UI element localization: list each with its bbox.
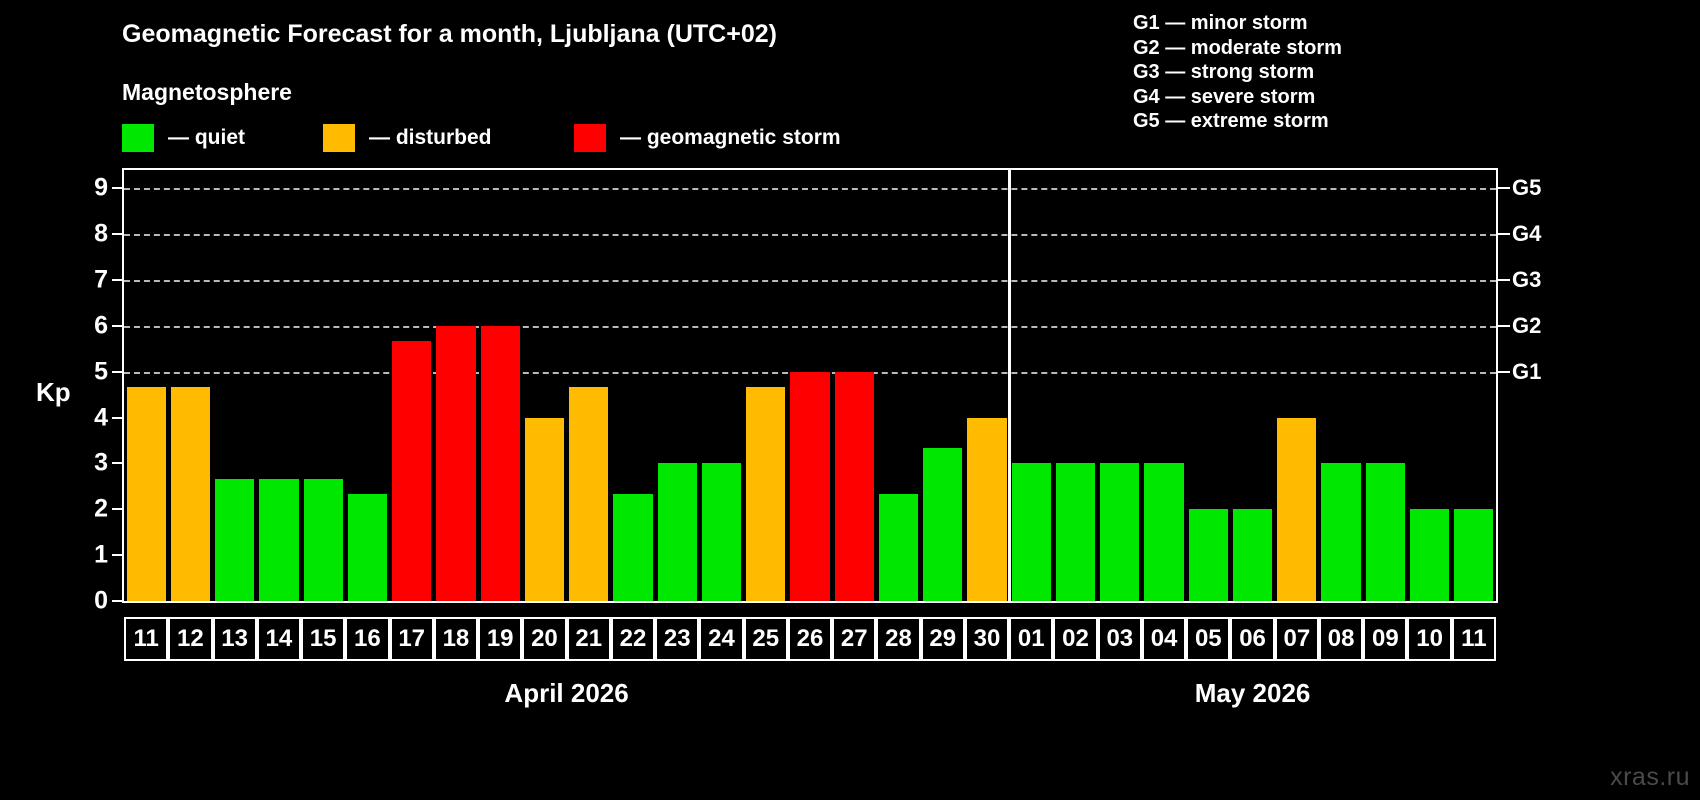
bar-april-12[interactable]: [171, 387, 210, 601]
day-label-april-16[interactable]: 16: [345, 617, 389, 661]
bar-april-24[interactable]: [702, 463, 741, 601]
bar-april-27[interactable]: [835, 372, 874, 601]
day-label-may-11[interactable]: 11: [1452, 617, 1496, 661]
day-label-april-17[interactable]: 17: [390, 617, 434, 661]
day-label-april-21[interactable]: 21: [567, 617, 611, 661]
gridline-kp-6: [124, 326, 1496, 328]
legend-swatch-icon: [122, 124, 154, 152]
month-separator-line: [1008, 170, 1011, 601]
page-title: Geomagnetic Forecast for a month, Ljublj…: [122, 20, 777, 49]
g-scale-legend: G1 — minor stormG2 — moderate stormG3 — …: [1133, 11, 1342, 134]
y-tick-label-6: 6: [68, 311, 108, 340]
day-label-may-06[interactable]: 06: [1230, 617, 1274, 661]
g-scale-row-g4: G4 — severe storm: [1133, 85, 1342, 110]
legend-swatch-icon: [574, 124, 606, 152]
g-tick-mark-g4: [1498, 233, 1510, 235]
bar-april-28[interactable]: [879, 494, 918, 601]
bar-april-14[interactable]: [259, 479, 298, 601]
y-tick-label-3: 3: [68, 449, 108, 478]
bar-april-19[interactable]: [481, 326, 520, 601]
y-tick-label-9: 9: [68, 174, 108, 203]
y-tick-mark-3: [112, 462, 122, 464]
y-axis-title: Kp: [36, 377, 71, 408]
magnetosphere-label: Magnetosphere: [122, 79, 292, 106]
bar-april-30[interactable]: [967, 418, 1006, 601]
bar-april-21[interactable]: [569, 387, 608, 601]
day-label-may-02[interactable]: 02: [1053, 617, 1097, 661]
y-tick-label-7: 7: [68, 266, 108, 295]
gridline-kp-7: [124, 280, 1496, 282]
bar-april-11[interactable]: [127, 387, 166, 601]
y-tick-label-8: 8: [68, 220, 108, 249]
day-label-april-20[interactable]: 20: [522, 617, 566, 661]
y-tick-label-0: 0: [68, 587, 108, 616]
bar-april-17[interactable]: [392, 341, 431, 601]
g-tick-label-g3: G3: [1512, 267, 1572, 293]
legend-item-0: — quiet: [122, 123, 245, 153]
day-label-may-08[interactable]: 08: [1319, 617, 1363, 661]
legend-label: — disturbed: [369, 126, 492, 150]
chart-page: Geomagnetic Forecast for a month, Ljublj…: [0, 0, 1700, 800]
day-label-april-29[interactable]: 29: [921, 617, 965, 661]
day-label-april-27[interactable]: 27: [832, 617, 876, 661]
day-label-april-28[interactable]: 28: [876, 617, 920, 661]
day-label-april-24[interactable]: 24: [699, 617, 743, 661]
day-label-april-12[interactable]: 12: [168, 617, 212, 661]
bar-april-18[interactable]: [436, 326, 475, 601]
day-label-april-22[interactable]: 22: [611, 617, 655, 661]
bar-may-09[interactable]: [1366, 463, 1405, 601]
bar-april-16[interactable]: [348, 494, 387, 601]
bar-may-10[interactable]: [1410, 509, 1449, 601]
plot-area: [122, 168, 1498, 603]
y-tick-mark-4: [112, 417, 122, 419]
bar-april-29[interactable]: [923, 448, 962, 601]
month-caption-april: April 2026: [124, 678, 1009, 709]
day-label-april-30[interactable]: 30: [965, 617, 1009, 661]
bar-april-15[interactable]: [304, 479, 343, 601]
y-tick-mark-2: [112, 508, 122, 510]
legend-label: — geomagnetic storm: [620, 126, 841, 150]
y-tick-mark-7: [112, 279, 122, 281]
day-label-april-13[interactable]: 13: [213, 617, 257, 661]
day-label-april-14[interactable]: 14: [257, 617, 301, 661]
bar-may-01[interactable]: [1012, 463, 1051, 601]
g-tick-mark-g1: [1498, 371, 1510, 373]
day-label-may-10[interactable]: 10: [1407, 617, 1451, 661]
y-tick-label-2: 2: [68, 495, 108, 524]
bar-may-04[interactable]: [1144, 463, 1183, 601]
y-tick-mark-9: [112, 187, 122, 189]
g-tick-label-g2: G2: [1512, 313, 1572, 339]
y-tick-mark-8: [112, 233, 122, 235]
bar-may-05[interactable]: [1189, 509, 1228, 601]
g-scale-row-g1: G1 — minor storm: [1133, 11, 1342, 36]
bar-april-13[interactable]: [215, 479, 254, 601]
legend-item-2: — geomagnetic storm: [574, 123, 841, 153]
y-tick-mark-5: [112, 371, 122, 373]
gridline-kp-9: [124, 188, 1496, 190]
day-label-april-15[interactable]: 15: [301, 617, 345, 661]
day-label-may-05[interactable]: 05: [1186, 617, 1230, 661]
day-label-april-23[interactable]: 23: [655, 617, 699, 661]
y-tick-mark-0: [112, 600, 122, 602]
y-tick-label-4: 4: [68, 403, 108, 432]
day-label-april-18[interactable]: 18: [434, 617, 478, 661]
bar-april-20[interactable]: [525, 418, 564, 601]
watermark: xras.ru: [1610, 763, 1690, 792]
g-scale-row-g2: G2 — moderate storm: [1133, 36, 1342, 61]
g-scale-row-g5: G5 — extreme storm: [1133, 109, 1342, 134]
day-label-april-11[interactable]: 11: [124, 617, 168, 661]
bar-april-25[interactable]: [746, 387, 785, 601]
y-tick-mark-1: [112, 554, 122, 556]
month-caption-may: May 2026: [1009, 678, 1496, 709]
day-label-april-25[interactable]: 25: [744, 617, 788, 661]
g-tick-mark-g5: [1498, 187, 1510, 189]
bar-april-22[interactable]: [613, 494, 652, 601]
g-tick-mark-g2: [1498, 325, 1510, 327]
legend-item-1: — disturbed: [323, 123, 492, 153]
g-tick-label-g4: G4: [1512, 221, 1572, 247]
gridline-kp-8: [124, 234, 1496, 236]
y-tick-label-1: 1: [68, 541, 108, 570]
g-tick-label-g1: G1: [1512, 359, 1572, 385]
day-label-april-26[interactable]: 26: [788, 617, 832, 661]
bar-may-08[interactable]: [1321, 463, 1360, 601]
legend-swatch-icon: [323, 124, 355, 152]
bar-may-06[interactable]: [1233, 509, 1272, 601]
day-label-may-01[interactable]: 01: [1009, 617, 1053, 661]
day-label-may-09[interactable]: 09: [1363, 617, 1407, 661]
day-label-april-19[interactable]: 19: [478, 617, 522, 661]
day-label-may-03[interactable]: 03: [1098, 617, 1142, 661]
day-label-may-04[interactable]: 04: [1142, 617, 1186, 661]
g-scale-row-g3: G3 — strong storm: [1133, 60, 1342, 85]
day-label-may-07[interactable]: 07: [1275, 617, 1319, 661]
plot-inner: [124, 170, 1496, 601]
legend-label: — quiet: [168, 126, 245, 150]
g-tick-label-g5: G5: [1512, 175, 1572, 201]
bar-may-02[interactable]: [1056, 463, 1095, 601]
y-tick-mark-6: [112, 325, 122, 327]
bar-april-23[interactable]: [658, 463, 697, 601]
bar-may-11[interactable]: [1454, 509, 1493, 601]
bar-april-26[interactable]: [790, 372, 829, 601]
bar-may-07[interactable]: [1277, 418, 1316, 601]
bar-may-03[interactable]: [1100, 463, 1139, 601]
y-tick-label-5: 5: [68, 357, 108, 386]
g-tick-mark-g3: [1498, 279, 1510, 281]
